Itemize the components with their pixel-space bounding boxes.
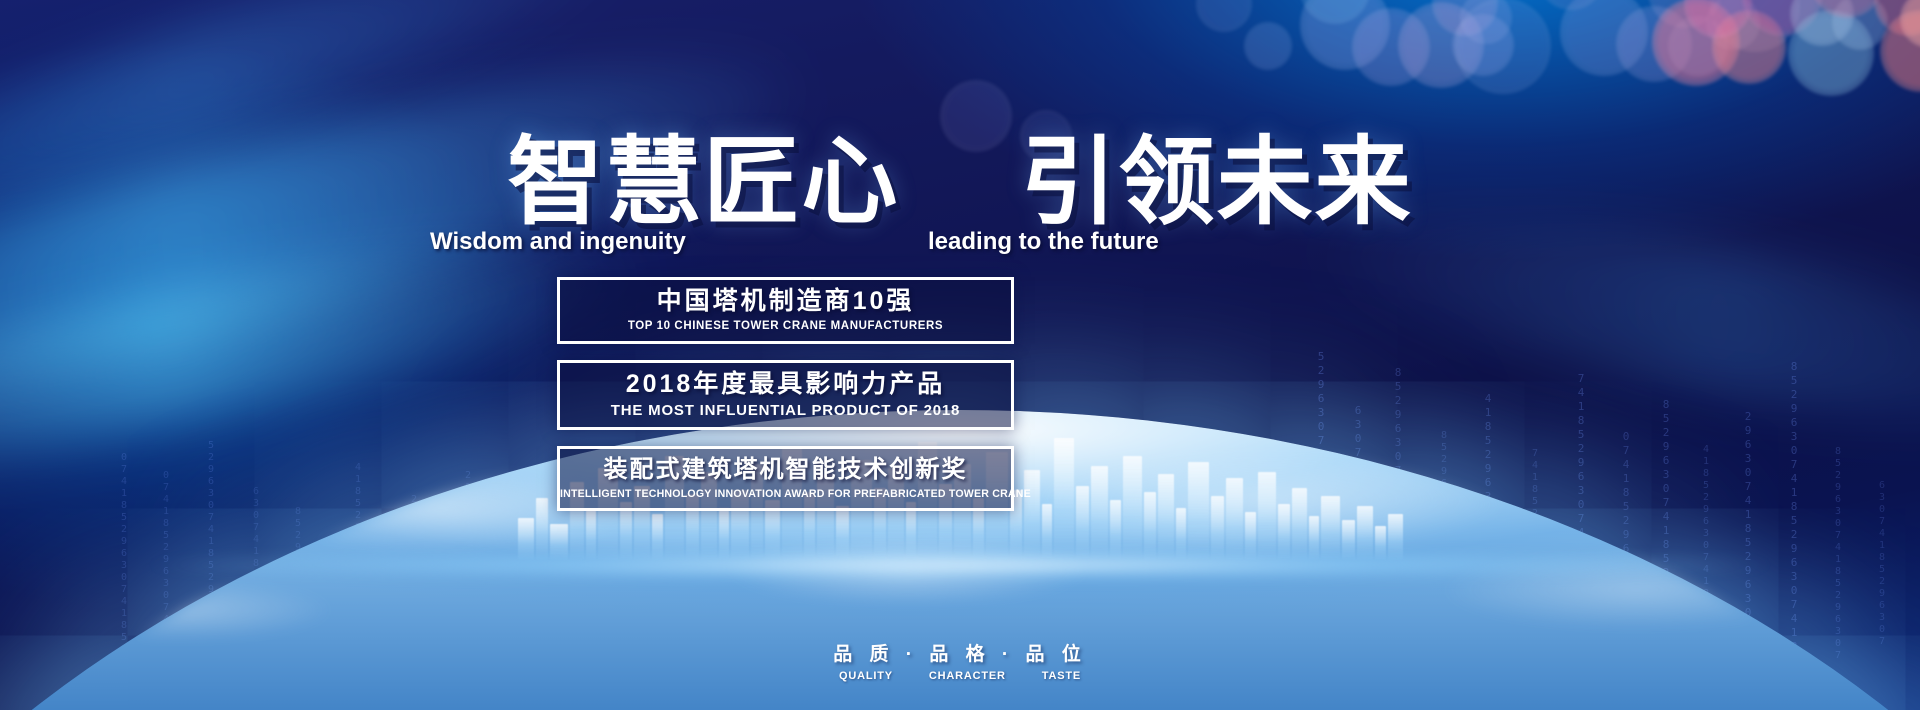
award-title-cn: 中国塔机制造商10强 xyxy=(560,287,1011,317)
award-title-en: INTELLIGENT TECHNOLOGY INNOVATION AWARD … xyxy=(560,488,1011,500)
promo-banner: 5296307418529630741852963063074185296307… xyxy=(0,0,1920,710)
bokeh-circle xyxy=(1452,14,1514,76)
bokeh-circle xyxy=(1616,6,1692,82)
award-box-top10: 中国塔机制造商10强 TOP 10 CHINESE TOWER CRANE MA… xyxy=(557,277,1014,344)
award-title-cn: 装配式建筑塔机智能技术创新奖 xyxy=(560,456,1011,484)
subtitle-left: Wisdom and ingenuity xyxy=(430,228,686,256)
brand-tagline: 品 质 · 品 格 · 品 位 QUALITY CHARACTER TASTE xyxy=(0,639,1920,682)
bokeh-circle xyxy=(1652,0,1740,86)
award-title-cn: 2018年度最具影响力产品 xyxy=(560,370,1011,400)
bokeh-circle xyxy=(1788,10,1874,96)
subtitle-right: leading to the future xyxy=(928,228,1159,256)
bokeh-circle xyxy=(1900,0,1920,48)
bokeh-circle xyxy=(1538,0,1604,10)
bokeh-circle xyxy=(1648,0,1722,28)
award-title-en: TOP 10 CHINESE TOWER CRANE MANUFACTURERS xyxy=(560,320,1011,333)
bokeh-circle xyxy=(1460,0,1512,44)
bokeh-circle xyxy=(1432,0,1498,36)
bokeh-circle xyxy=(1244,22,1292,70)
bokeh-circle xyxy=(1684,0,1752,38)
bokeh-circle xyxy=(1742,0,1822,36)
bokeh-circle xyxy=(1832,0,1888,50)
bokeh-circle xyxy=(1196,0,1252,32)
tagline-en-taste: TASTE xyxy=(1042,670,1081,682)
bokeh-circle xyxy=(1810,0,1884,18)
bokeh-circle xyxy=(1668,16,1728,76)
award-box-influential-product: 2018年度最具影响力产品 THE MOST INFLUENTIAL PRODU… xyxy=(557,360,1014,431)
tagline-cn: 品 质 · 品 格 · 品 位 xyxy=(0,639,1920,666)
bokeh-circle xyxy=(1712,10,1786,84)
tagline-en-row: QUALITY CHARACTER TASTE xyxy=(0,670,1920,682)
horizon-glow xyxy=(0,548,1920,582)
bokeh-circle xyxy=(1706,0,1760,50)
awards-list: 中国塔机制造商10强 TOP 10 CHINESE TOWER CRANE MA… xyxy=(557,277,1014,527)
subtitle-row: Wisdom and ingenuity leading to the futu… xyxy=(0,228,1920,258)
bokeh-circle xyxy=(1300,0,1370,24)
tagline-en-quality: QUALITY xyxy=(839,670,893,682)
tagline-en-character: CHARACTER xyxy=(929,670,1006,682)
headline-right: 引领未来 xyxy=(1021,129,1413,236)
bokeh-circle xyxy=(1300,0,1390,70)
headline-left: 智慧匠心 xyxy=(507,129,899,236)
bokeh-circle xyxy=(1874,0,1920,36)
award-box-innovation: 装配式建筑塔机智能技术创新奖 INTELLIGENT TECHNOLOGY IN… xyxy=(557,446,1014,510)
bokeh-circle xyxy=(1455,0,1551,94)
bokeh-circle xyxy=(1560,0,1648,76)
digit-column: 852963074185296307 xyxy=(1832,446,1844,662)
bokeh-circle xyxy=(1352,8,1430,86)
bokeh-circle xyxy=(1790,0,1854,46)
bokeh-circle xyxy=(1710,0,1800,52)
bokeh-circle xyxy=(1398,2,1484,88)
award-title-en: THE MOST INFLUENTIAL PRODUCT OF 2018 xyxy=(560,402,1011,419)
bokeh-circle xyxy=(1880,10,1920,92)
page-title: 智慧匠心 引领未来 xyxy=(0,104,1920,243)
